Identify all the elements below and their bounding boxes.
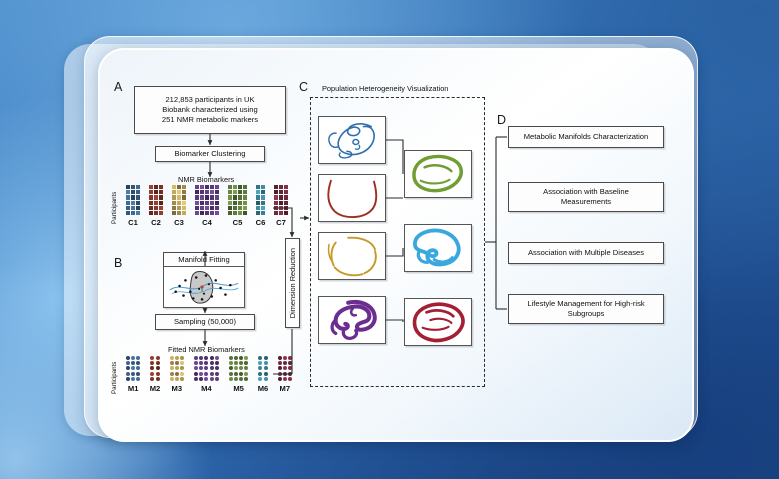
marker-dot — [215, 366, 219, 370]
heat-cell — [126, 195, 130, 199]
heat-cell — [136, 211, 140, 215]
heat-cell — [159, 206, 163, 210]
marker-label-m7: M7 — [271, 384, 299, 393]
heat-cell — [238, 201, 242, 205]
heat-cell — [172, 185, 176, 189]
heat-cell — [284, 201, 288, 205]
marker-dot — [278, 372, 282, 376]
heat-cell — [177, 201, 181, 205]
manifold-fitting-label: Manifold Fitting — [174, 253, 234, 267]
marker-dot — [180, 366, 184, 370]
heat-cell — [210, 185, 214, 189]
marker-dot — [244, 377, 248, 381]
marker-dot — [175, 366, 179, 370]
marker-dot — [194, 356, 198, 360]
intro-line-3: 251 NMR metabolic markers — [162, 115, 258, 125]
marker-dot — [288, 361, 292, 365]
marker-dot — [210, 361, 214, 365]
marker-dot — [288, 372, 292, 376]
heat-cell — [215, 211, 219, 215]
marker-dot — [126, 356, 130, 360]
manifold-blue-swirl-svg — [319, 117, 385, 163]
marker-dot — [194, 372, 198, 376]
heat-cell — [205, 185, 209, 189]
heat-cell — [159, 185, 163, 189]
marker-dot — [126, 372, 130, 376]
marker-dot — [175, 377, 179, 381]
heat-cell — [195, 190, 199, 194]
marker-dot — [229, 356, 233, 360]
panel-b-letter: B — [114, 256, 122, 270]
marker-dot — [288, 366, 292, 370]
heat-cell — [215, 190, 219, 194]
heat-cell — [274, 195, 278, 199]
thumb-manifold-blue-swirl — [318, 116, 386, 164]
heat-cell — [136, 201, 140, 205]
manifold-fitting-illustration — [163, 266, 245, 308]
dimension-reduction-box: Dimension Reduction — [285, 238, 300, 328]
panel-d-box-3-line-1: Subgroups — [527, 309, 644, 319]
marker-dot — [288, 356, 292, 360]
heat-cell — [177, 190, 181, 194]
marker-dot — [194, 361, 198, 365]
marker-dot — [229, 366, 233, 370]
heat-cell — [131, 201, 135, 205]
manifold-lightblue-cloud-svg — [405, 225, 471, 271]
marker-label-m5: M5 — [222, 384, 256, 393]
manifold-gold-arc-svg — [319, 233, 385, 279]
heat-cell — [200, 211, 204, 215]
heat-cell — [274, 185, 278, 189]
marker-dot — [170, 356, 174, 360]
marker-dot — [210, 366, 214, 370]
marker-dot-grid-m1 — [126, 356, 140, 381]
heat-cell — [131, 185, 135, 189]
heat-cell — [136, 185, 140, 189]
participants-axis-label-b: Participants — [111, 356, 118, 394]
heat-cell — [261, 185, 265, 189]
marker-dot — [229, 377, 233, 381]
marker-dot — [210, 356, 214, 360]
heat-cell — [279, 195, 283, 199]
heat-cell — [149, 206, 153, 210]
marker-dot — [204, 361, 208, 365]
marker-dot — [175, 372, 179, 376]
marker-dot — [126, 366, 130, 370]
marker-label-m4: M4 — [187, 384, 226, 393]
heat-cell — [177, 185, 181, 189]
cluster-strip-c4 — [195, 185, 219, 215]
cluster-strip-c7 — [274, 185, 288, 215]
heat-cell — [154, 201, 158, 205]
marker-dot — [131, 356, 135, 360]
marker-dot — [194, 366, 198, 370]
cluster-label-c4: C4 — [189, 218, 225, 227]
marker-dot — [180, 356, 184, 360]
panel-d-box-3-line-0: Lifestyle Management for High-risk — [527, 299, 644, 309]
cluster-strip-c3 — [172, 185, 186, 215]
marker-dot — [244, 361, 248, 365]
marker-dot — [239, 361, 243, 365]
cluster-strip-c2 — [149, 185, 163, 215]
heat-cell — [243, 190, 247, 194]
marker-dot — [258, 356, 262, 360]
marker-dot — [215, 356, 219, 360]
marker-dot — [199, 356, 203, 360]
heat-cell — [279, 206, 283, 210]
marker-dot — [180, 372, 184, 376]
panel-d-box-1-line-0: Association with Baseline — [543, 187, 629, 197]
heat-cell — [256, 190, 260, 194]
marker-dot — [199, 377, 203, 381]
marker-dot — [199, 361, 203, 365]
panel-d-box-2-line-0: Association with Multiple Diseases — [528, 248, 644, 258]
thumb-manifold-darkred-arc — [318, 174, 386, 222]
marker-dot — [229, 361, 233, 365]
intro-line-1: 212,853 participants in UK — [162, 95, 258, 105]
heat-cell — [228, 185, 232, 189]
heat-cell — [274, 190, 278, 194]
heat-cell — [228, 195, 232, 199]
marker-dot — [239, 366, 243, 370]
heat-cell — [284, 195, 288, 199]
heat-cell — [200, 185, 204, 189]
heat-cell — [195, 201, 199, 205]
marker-dot — [283, 377, 287, 381]
heat-cell — [126, 190, 130, 194]
marker-dot-grid-m2 — [150, 356, 159, 381]
marker-dot — [278, 366, 282, 370]
marker-dot — [199, 366, 203, 370]
heat-cell — [131, 211, 135, 215]
heat-cell — [256, 195, 260, 199]
marker-dot — [239, 356, 243, 360]
heat-cell — [274, 211, 278, 215]
manifold-purple-cloud-svg — [319, 297, 385, 343]
marker-dot — [283, 361, 287, 365]
marker-dot — [156, 361, 160, 365]
heat-cell — [205, 206, 209, 210]
heat-cell — [210, 206, 214, 210]
sampling-label: Sampling (50,000) — [170, 315, 240, 329]
heat-cell — [126, 201, 130, 205]
heat-cell — [279, 185, 283, 189]
heat-cell — [149, 211, 153, 215]
heat-cell — [172, 206, 176, 210]
heat-cell — [243, 211, 247, 215]
biomarker-clustering-label: Biomarker Clustering — [171, 147, 250, 161]
heat-cell — [284, 206, 288, 210]
marker-dot — [136, 377, 140, 381]
marker-dot — [258, 372, 262, 376]
heat-cell — [243, 201, 247, 205]
marker-dot — [156, 377, 160, 381]
heat-cell — [228, 190, 232, 194]
manifold-darkred-arc-svg — [319, 175, 385, 221]
marker-dot-grid-m6 — [258, 356, 267, 381]
heat-cell — [195, 195, 199, 199]
marker-dot — [234, 377, 238, 381]
heat-cell — [261, 190, 265, 194]
marker-dot — [258, 377, 262, 381]
cluster-strip-c5 — [228, 185, 247, 215]
heat-cell — [131, 195, 135, 199]
marker-dot — [244, 366, 248, 370]
heat-cell — [195, 211, 199, 215]
heat-cell — [200, 195, 204, 199]
heat-cell — [238, 211, 242, 215]
heat-cell — [159, 195, 163, 199]
marker-dot — [131, 366, 135, 370]
heat-cell — [195, 206, 199, 210]
heat-cell — [172, 201, 176, 205]
marker-dot — [283, 372, 287, 376]
cluster-strip-c6 — [256, 185, 265, 215]
heat-cell — [256, 211, 260, 215]
heat-cell — [205, 190, 209, 194]
heat-cell — [177, 211, 181, 215]
heat-cell — [256, 206, 260, 210]
heat-cell — [228, 201, 232, 205]
heat-cell — [154, 190, 158, 194]
marker-dot-grid-m3 — [170, 356, 184, 381]
heat-cell — [149, 190, 153, 194]
heat-cell — [210, 190, 214, 194]
fitted-nmr-title: Fitted NMR Biomarkers — [168, 345, 245, 354]
heat-cell — [228, 211, 232, 215]
heat-cell — [159, 201, 163, 205]
marker-dot — [264, 366, 268, 370]
marker-dot — [234, 372, 238, 376]
heat-cell — [243, 185, 247, 189]
heat-cell — [126, 185, 130, 189]
marker-dot — [278, 377, 282, 381]
marker-dot — [180, 377, 184, 381]
cluster-strip-c1 — [126, 185, 140, 215]
heat-cell — [182, 206, 186, 210]
marker-dot — [175, 356, 179, 360]
marker-dot — [234, 356, 238, 360]
marker-dot — [156, 356, 160, 360]
thumb-manifold-green-cloud — [404, 150, 472, 198]
marker-dot — [170, 377, 174, 381]
marker-dot — [150, 361, 154, 365]
heat-cell — [274, 201, 278, 205]
heat-cell — [238, 185, 242, 189]
heat-cell — [131, 190, 135, 194]
heat-cell — [131, 206, 135, 210]
heat-cell — [210, 195, 214, 199]
marker-dot — [210, 372, 214, 376]
heat-cell — [154, 211, 158, 215]
heat-cell — [126, 211, 130, 215]
heat-cell — [233, 211, 237, 215]
marker-dot — [239, 377, 243, 381]
marker-dot — [234, 366, 238, 370]
thumb-manifold-crimson-cloud — [404, 298, 472, 346]
heat-cell — [284, 190, 288, 194]
marker-dot — [283, 366, 287, 370]
marker-dot — [215, 372, 219, 376]
marker-dot — [244, 356, 248, 360]
marker-dot — [239, 372, 243, 376]
biomarker-clustering-box: Biomarker Clustering — [155, 146, 265, 162]
marker-dot — [288, 377, 292, 381]
panel-d-box-2: Association with Multiple Diseases — [508, 242, 664, 264]
cluster-label-c5: C5 — [222, 218, 253, 227]
heat-cell — [210, 201, 214, 205]
heat-cell — [200, 201, 204, 205]
heat-cell — [200, 206, 204, 210]
heat-cell — [126, 206, 130, 210]
marker-dot-grid-m5 — [229, 356, 249, 381]
heat-cell — [205, 211, 209, 215]
marker-dot — [264, 356, 268, 360]
marker-dot — [278, 361, 282, 365]
panel-d-box-1: Association with Baseline Measurements — [508, 182, 664, 212]
heat-cell — [210, 211, 214, 215]
manifold-blob-svg — [164, 267, 244, 307]
panel-c-letter: C — [299, 80, 308, 94]
marker-dot — [156, 372, 160, 376]
nmr-biomarkers-title: NMR Biomarkers — [178, 175, 234, 184]
heat-cell — [154, 185, 158, 189]
marker-dot — [170, 372, 174, 376]
participants-axis-label-a: Participants — [111, 186, 118, 224]
marker-dot — [264, 361, 268, 365]
heat-cell — [200, 190, 204, 194]
manifold-green-cloud-svg — [405, 151, 471, 197]
figure-canvas: A 212,853 participants in UK Biobank cha… — [0, 0, 779, 479]
marker-dot — [150, 366, 154, 370]
heat-cell — [261, 195, 265, 199]
marker-dot — [156, 366, 160, 370]
heat-cell — [238, 195, 242, 199]
marker-dot — [215, 361, 219, 365]
heat-cell — [238, 206, 242, 210]
heat-cell — [182, 190, 186, 194]
heat-cell — [261, 211, 265, 215]
heat-cell — [233, 206, 237, 210]
marker-dot — [131, 372, 135, 376]
heat-cell — [243, 195, 247, 199]
marker-dot — [204, 372, 208, 376]
dimension-reduction-label: Dimension Reduction — [288, 248, 297, 318]
heat-cell — [149, 185, 153, 189]
heat-cell — [261, 206, 265, 210]
heat-cell — [172, 195, 176, 199]
sampling-box: Sampling (50,000) — [155, 314, 255, 330]
panel-d-letter: D — [497, 113, 506, 127]
heat-cell — [195, 185, 199, 189]
marker-dot — [170, 366, 174, 370]
heat-cell — [284, 185, 288, 189]
manifold-crimson-cloud-svg — [405, 299, 471, 345]
marker-dot — [136, 372, 140, 376]
marker-dot — [244, 372, 248, 376]
marker-dot — [204, 366, 208, 370]
heat-cell — [136, 195, 140, 199]
cluster-label-c7: C7 — [268, 218, 294, 227]
marker-dot — [199, 372, 203, 376]
heat-cell — [215, 185, 219, 189]
marker-dot — [215, 377, 219, 381]
heat-cell — [243, 206, 247, 210]
heat-cell — [261, 201, 265, 205]
heat-cell — [215, 206, 219, 210]
heat-cell — [177, 206, 181, 210]
marker-dot — [180, 361, 184, 365]
marker-dot — [126, 377, 130, 381]
marker-dot — [204, 377, 208, 381]
marker-dot — [136, 361, 140, 365]
marker-dot — [258, 361, 262, 365]
heat-cell — [136, 190, 140, 194]
panel-a-letter: A — [114, 80, 122, 94]
marker-dot — [229, 372, 233, 376]
marker-dot — [204, 356, 208, 360]
heat-cell — [233, 195, 237, 199]
heat-cell — [172, 190, 176, 194]
heat-cell — [205, 201, 209, 205]
heat-cell — [172, 211, 176, 215]
heat-cell — [274, 206, 278, 210]
heat-cell — [215, 195, 219, 199]
heat-cell — [284, 211, 288, 215]
marker-dot — [150, 356, 154, 360]
intro-line-2: Biobank characterized using — [162, 105, 258, 115]
marker-dot-grid-m4 — [194, 356, 219, 381]
thumb-manifold-purple-cloud — [318, 296, 386, 344]
heat-cell — [233, 185, 237, 189]
marker-dot — [136, 356, 140, 360]
marker-dot-grid-m7 — [278, 356, 292, 381]
marker-dot — [264, 377, 268, 381]
marker-dot — [194, 377, 198, 381]
marker-dot — [234, 361, 238, 365]
panel-c-title: Population Heterogeneity Visualization — [322, 84, 448, 93]
marker-dot — [175, 361, 179, 365]
marker-dot — [150, 377, 154, 381]
heat-cell — [215, 201, 219, 205]
heat-cell — [182, 195, 186, 199]
marker-dot — [210, 377, 214, 381]
heat-cell — [256, 201, 260, 205]
heat-cell — [182, 211, 186, 215]
heat-cell — [182, 201, 186, 205]
marker-dot — [278, 356, 282, 360]
marker-dot — [131, 361, 135, 365]
heat-cell — [238, 190, 242, 194]
thumb-manifold-gold-arc — [318, 232, 386, 280]
panel-d-box-1-line-1: Measurements — [543, 197, 629, 207]
heat-cell — [136, 206, 140, 210]
panel-d-box-0: Metabolic Manifolds Characterization — [508, 126, 664, 148]
heat-cell — [159, 211, 163, 215]
manifold-fitting-box: Manifold Fitting — [163, 252, 245, 266]
panel-d-box-0-line-0: Metabolic Manifolds Characterization — [524, 132, 649, 142]
marker-dot — [126, 361, 130, 365]
heat-cell — [177, 195, 181, 199]
heat-cell — [279, 201, 283, 205]
heat-cell — [228, 206, 232, 210]
heat-cell — [279, 211, 283, 215]
marker-dot — [170, 361, 174, 365]
heat-cell — [205, 195, 209, 199]
heat-cell — [154, 195, 158, 199]
heat-cell — [159, 190, 163, 194]
marker-dot — [131, 377, 135, 381]
